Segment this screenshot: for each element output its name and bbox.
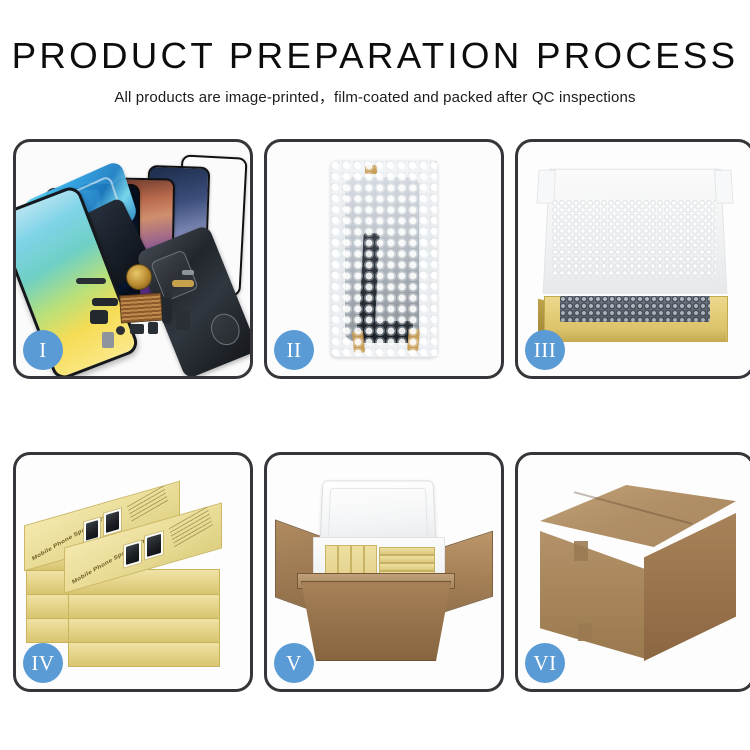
carton-front-icon: [301, 581, 451, 661]
logic-board-icon: [119, 293, 163, 324]
screen-ic-chip-icon: [357, 321, 413, 343]
foam-sheet-icon: [552, 200, 716, 278]
box-slab: [68, 593, 220, 619]
page-title: PRODUCT PREPARATION PROCESS: [0, 38, 750, 74]
box-window-image: [126, 543, 139, 565]
lid-tab-left-icon: [536, 170, 555, 204]
box-slab: [68, 641, 220, 667]
tape-top-icon: [365, 165, 377, 174]
step-badge-4: IV: [23, 643, 63, 683]
page-subtitle: All products are image-printed，film-coat…: [0, 86, 750, 107]
part-bracket-icon: [182, 270, 194, 275]
step-badge-1: I: [23, 330, 63, 370]
tape-right-icon: [407, 329, 420, 352]
process-step-2: II: [264, 139, 504, 379]
box-window-1: [123, 539, 142, 568]
yellow-box-flat: [379, 547, 435, 555]
lid-tab-right-icon: [714, 170, 733, 204]
bubble-wrap-contents-icon: [560, 296, 710, 322]
step-badge-3: III: [525, 330, 565, 370]
step-badge-5: V: [274, 643, 314, 683]
process-step-3: III: [515, 139, 750, 379]
ribbon-cable-icon: [162, 298, 172, 324]
yellow-box-flat: [379, 555, 435, 563]
bubble-wrap-bag-icon: [331, 161, 437, 357]
part-button-icon: [116, 326, 125, 335]
carton-tape-lower-icon: [578, 623, 592, 641]
yellow-box-flat: [379, 563, 435, 571]
box-window-image: [147, 534, 161, 557]
carton-left-face-icon: [540, 531, 646, 659]
process-step-1: I: [13, 139, 253, 379]
carton-tape-upper-icon: [574, 541, 588, 561]
process-step-grid: I II III: [13, 139, 737, 692]
speaker-coil-icon: [126, 264, 152, 290]
tape-left-icon: [352, 330, 365, 353]
part-vibrator-icon: [148, 322, 158, 334]
flex-cable-icon: [92, 298, 118, 306]
step-badge-6: VI: [525, 643, 565, 683]
process-step-6: VI: [515, 452, 750, 692]
part-battery-icon: [176, 310, 190, 330]
page-header: PRODUCT PREPARATION PROCESS All products…: [0, 0, 750, 107]
process-step-4: Mobile Phone Spare Parts Mobile P: [13, 452, 253, 692]
box-slab: [68, 617, 220, 643]
part-shield-icon: [130, 324, 144, 334]
part-gold-strip-icon: [172, 280, 194, 287]
camera-module-icon: [90, 310, 108, 324]
spare-parts-group: [76, 262, 226, 348]
kraft-box-front-edge-icon: [544, 330, 726, 342]
box-window-2: [144, 530, 164, 561]
process-step-5: V: [264, 452, 504, 692]
part-sim-tray-icon: [102, 332, 114, 348]
box-stack-front: Mobile Phone Spare Parts: [68, 523, 220, 673]
part-connector-icon: [76, 278, 106, 284]
wrapped-screen-icon: [345, 177, 419, 341]
step-badge-2: II: [274, 330, 314, 370]
